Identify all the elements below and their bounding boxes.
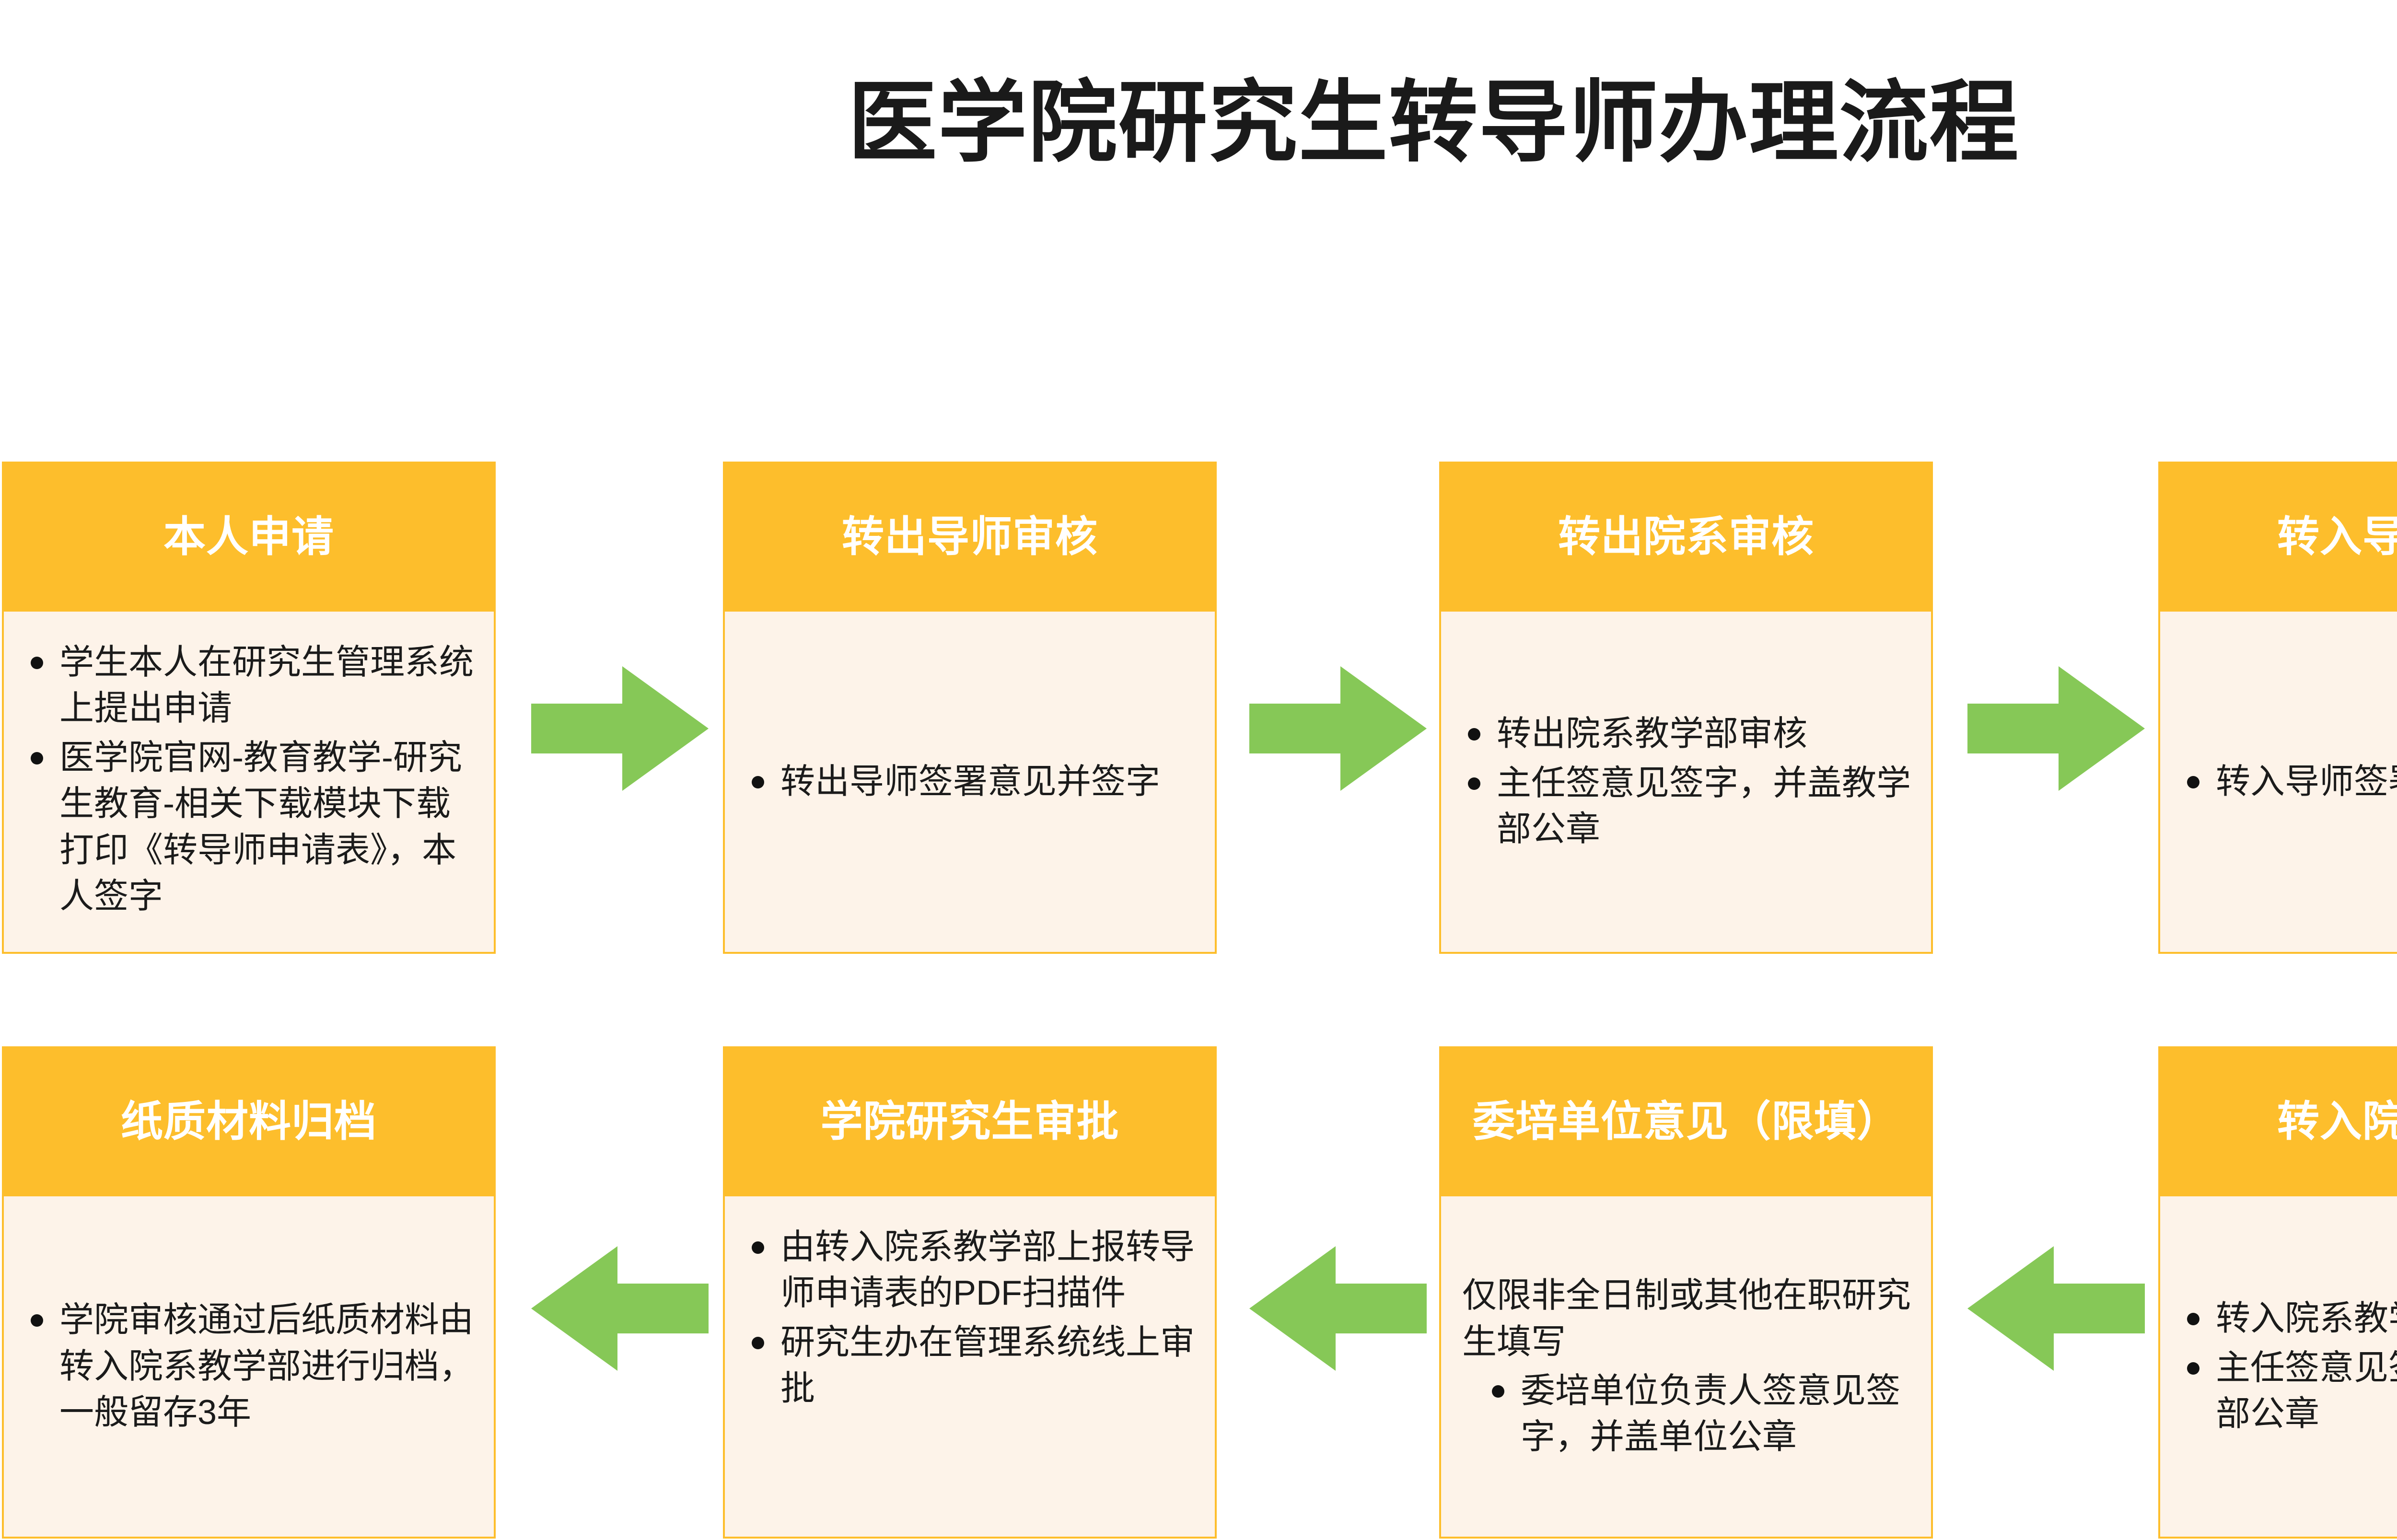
list-item: 转入院系教学部审核 [2178, 1296, 2397, 1342]
flow-node-step-4[interactable]: 转入导师审核 转入导师签署意见并签字 [2158, 462, 2397, 954]
arrow-left-icon-step6-to-step7 [1249, 1246, 1427, 1371]
node-header: 转入导师审核 [2158, 462, 2397, 612]
node-body: 转出导师签署意见并签字 [723, 612, 1217, 954]
node-header: 学院研究生审批 [723, 1046, 1217, 1196]
list-item: 学院审核通过后纸质材料由转入院系教学部进行归档，一般留存3年 [22, 1297, 477, 1436]
list-item: 由转入院系教学部上报转导师申请表的PDF扫描件 [743, 1224, 1198, 1317]
node-bullet-list: 学院审核通过后纸质材料由转入院系教学部进行归档，一般留存3年 [22, 1297, 477, 1436]
node-bullet-list: 转入院系教学部审核 主任签意见签字，并盖教学部公章 [2178, 1296, 2397, 1437]
node-header: 转出导师审核 [723, 462, 1217, 612]
list-item: 委培单位负责人签意见签字，并盖单位公章 [1459, 1368, 1915, 1460]
node-bullet-list: 转入导师签署意见并签字 [2178, 759, 2397, 805]
node-bullet-list: 由转入院系教学部上报转导师申请表的PDF扫描件 研究生办在管理系统线上审批 [743, 1224, 1198, 1412]
arrow-left-icon-step7-to-step8 [531, 1246, 709, 1371]
list-item: 仅限非全日制或其他在职研究生填写 [1459, 1273, 1915, 1365]
flow-node-step-6[interactable]: 委培单位意见（限填） 仅限非全日制或其他在职研究生填写 委培单位负责人签意见签字… [1439, 1046, 1933, 1539]
node-body: 仅限非全日制或其他在职研究生填写 委培单位负责人签意见签字，并盖单位公章 [1439, 1196, 1933, 1539]
list-item: 研究生办在管理系统线上审批 [743, 1320, 1198, 1412]
node-header: 纸质材料归档 [2, 1046, 496, 1196]
node-bullet-list: 学生本人在研究生管理系统上提出申请 医学院官网-教育教学-研究生教育-相关下载模… [22, 639, 477, 920]
node-body: 转出院系教学部审核 主任签意见签字，并盖教学部公章 [1439, 612, 1933, 954]
list-item: 主任签意见签字，并盖教学部公章 [2178, 1345, 2397, 1437]
node-bullet-list: 仅限非全日制或其他在职研究生填写 委培单位负责人签意见签字，并盖单位公章 [1459, 1273, 1915, 1460]
arrow-right-icon-step1-to-step2 [531, 666, 709, 791]
node-body: 学生本人在研究生管理系统上提出申请 医学院官网-教育教学-研究生教育-相关下载模… [2, 612, 496, 954]
arrow-right-icon-step3-to-step4 [1967, 666, 2145, 791]
node-header: 转出院系审核 [1439, 462, 1933, 612]
flow-node-step-8[interactable]: 纸质材料归档 学院审核通过后纸质材料由转入院系教学部进行归档，一般留存3年 [2, 1046, 496, 1539]
node-body: 转入院系教学部审核 主任签意见签字，并盖教学部公章 [2158, 1196, 2397, 1539]
list-item: 转出导师签署意见并签字 [743, 759, 1198, 805]
node-header: 转入院系审核 [2158, 1046, 2397, 1196]
list-item: 转入导师签署意见并签字 [2178, 759, 2397, 805]
flow-node-step-2[interactable]: 转出导师审核 转出导师签署意见并签字 [723, 462, 1217, 954]
node-body: 转入导师签署意见并签字 [2158, 612, 2397, 954]
node-bullet-list: 转出导师签署意见并签字 [743, 759, 1198, 805]
list-item: 转出院系教学部审核 [1459, 711, 1915, 757]
flow-node-step-1[interactable]: 本人申请 学生本人在研究生管理系统上提出申请 医学院官网-教育教学-研究生教育-… [2, 462, 496, 954]
node-body: 学院审核通过后纸质材料由转入院系教学部进行归档，一般留存3年 [2, 1196, 496, 1539]
flow-node-step-3[interactable]: 转出院系审核 转出院系教学部审核 主任签意见签字，并盖教学部公章 [1439, 462, 1933, 954]
node-body: 由转入院系教学部上报转导师申请表的PDF扫描件 研究生办在管理系统线上审批 [723, 1196, 1217, 1539]
node-header: 本人申请 [2, 462, 496, 612]
list-item: 医学院官网-教育教学-研究生教育-相关下载模块下载打印《转导师申请表》，本人签字 [22, 735, 477, 920]
list-item: 主任签意见签字，并盖教学部公章 [1459, 760, 1915, 853]
arrow-left-icon-step5-to-step6 [1967, 1246, 2145, 1371]
flow-node-step-7[interactable]: 学院研究生审批 由转入院系教学部上报转导师申请表的PDF扫描件 研究生办在管理系… [723, 1046, 1217, 1539]
node-bullet-list: 转出院系教学部审核 主任签意见签字，并盖教学部公章 [1459, 711, 1915, 852]
flow-node-step-5[interactable]: 转入院系审核 转入院系教学部审核 主任签意见签字，并盖教学部公章 [2158, 1046, 2397, 1539]
list-item: 学生本人在研究生管理系统上提出申请 [22, 639, 477, 732]
node-header: 委培单位意见（限填） [1439, 1046, 1933, 1196]
arrow-right-icon-step2-to-step3 [1249, 666, 1427, 791]
page-title: 医学院研究生转导师办理流程 [0, 72, 2397, 174]
